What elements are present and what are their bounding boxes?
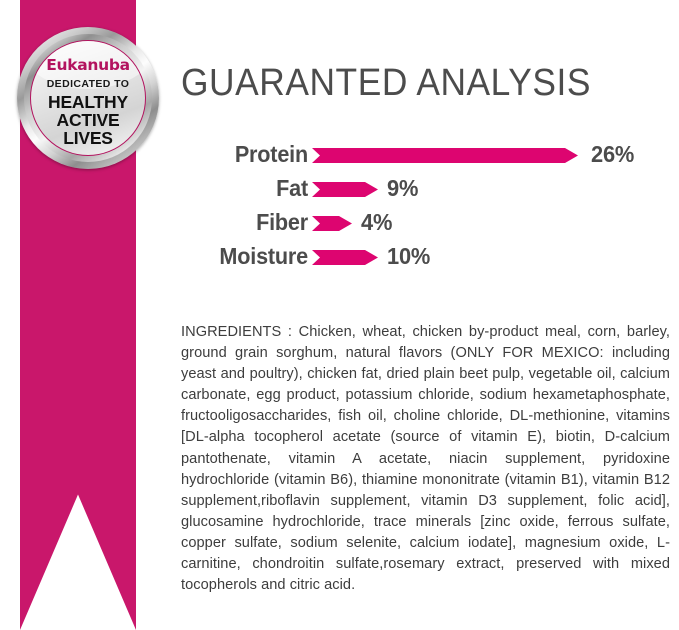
chart-row: Moisture 10% [181, 243, 671, 277]
content-area: GUARANTED ANALYSIS Protein 26% Fat 9% Fi… [0, 0, 679, 630]
chart-value-protein: 26% [591, 141, 634, 168]
chart-label-protein: Protein [189, 141, 308, 168]
chart-value-fiber: 4% [361, 209, 392, 236]
chart-label-moisture: Moisture [189, 243, 308, 270]
chart-row: Fiber 4% [181, 209, 671, 243]
chart-bar-fat [312, 182, 378, 197]
guaranteed-analysis-chart: Protein 26% Fat 9% Fiber 4% Moisture 10% [181, 141, 671, 277]
chart-row: Fat 9% [181, 175, 671, 209]
page-title: GUARANTED ANALYSIS [181, 62, 591, 105]
chart-value-moisture: 10% [387, 243, 430, 270]
chart-bar-protein [312, 148, 578, 163]
chart-bar-fiber [312, 216, 352, 231]
ingredients-paragraph: INGREDIENTS : Chicken, wheat, chicken by… [181, 322, 670, 596]
chart-value-fat: 9% [387, 175, 418, 202]
chart-bar-moisture [312, 250, 378, 265]
chart-label-fiber: Fiber [189, 209, 308, 236]
chart-label-fat: Fat [189, 175, 308, 202]
chart-row: Protein 26% [181, 141, 671, 175]
